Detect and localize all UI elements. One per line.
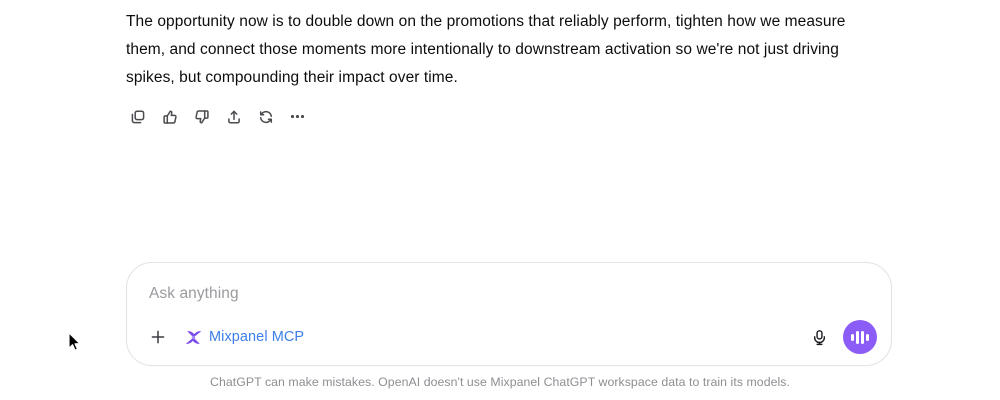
regenerate-icon <box>258 109 274 125</box>
assistant-message-text: The opportunity now is to double down on… <box>126 8 886 92</box>
plus-icon <box>149 328 167 346</box>
copy-button[interactable] <box>126 105 149 128</box>
message-action-toolbar <box>126 105 309 128</box>
thumbs-up-button[interactable] <box>158 105 181 128</box>
assistant-message: The opportunity now is to double down on… <box>126 8 886 92</box>
composer-input-row: Ask anything <box>149 283 869 305</box>
thumbs-down-icon <box>194 109 210 125</box>
mixpanel-mcp-label: Mixpanel MCP <box>209 329 304 346</box>
footer-disclaimer: ChatGPT can make mistakes. OpenAI doesn'… <box>0 375 1000 389</box>
microphone-icon <box>811 329 828 346</box>
mouse-cursor <box>68 332 82 352</box>
more-options-button[interactable] <box>286 105 309 128</box>
mixpanel-mcp-chip[interactable]: Mixpanel MCP <box>183 327 306 348</box>
thumbs-up-icon <box>162 109 178 125</box>
composer[interactable]: Ask anything <box>126 262 892 366</box>
composer-placeholder[interactable]: Ask anything <box>149 283 869 305</box>
voice-mode-button[interactable] <box>843 320 877 354</box>
copy-icon <box>130 109 146 125</box>
regenerate-button[interactable] <box>254 105 277 128</box>
add-attachment-button[interactable] <box>145 324 171 350</box>
chat-screen: The opportunity now is to double down on… <box>0 0 1000 400</box>
waveform-icon <box>851 329 869 345</box>
thumbs-down-button[interactable] <box>190 105 213 128</box>
more-options-icon <box>291 115 304 118</box>
dictate-button[interactable] <box>805 323 833 351</box>
share-icon <box>226 109 242 125</box>
mixpanel-logo-icon <box>185 329 202 346</box>
composer-toolbar: Mixpanel MCP <box>127 320 891 354</box>
share-button[interactable] <box>222 105 245 128</box>
